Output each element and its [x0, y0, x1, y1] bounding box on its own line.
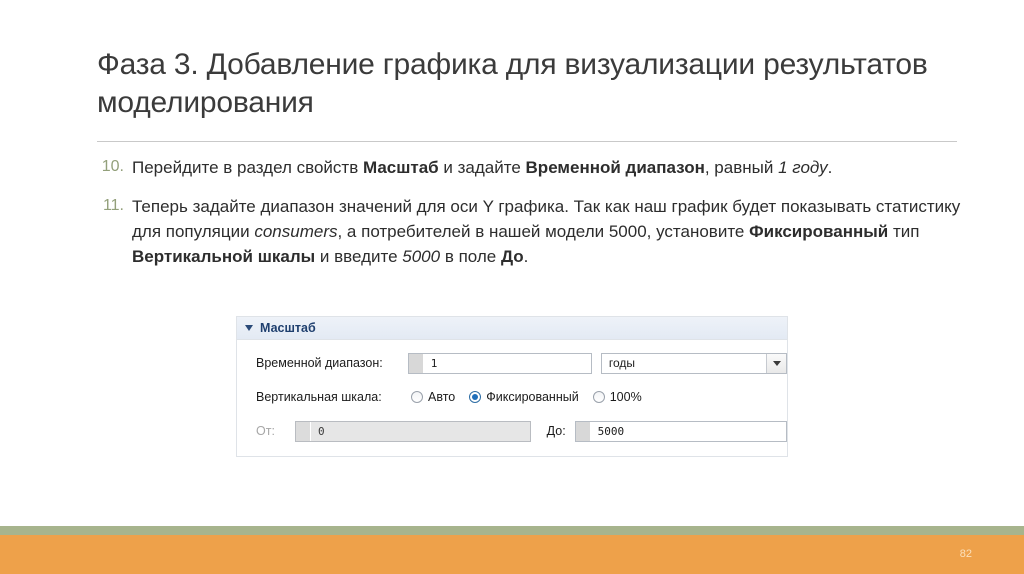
text-segment-italic: 1 году: [778, 158, 828, 177]
text-segment: тип: [888, 222, 919, 241]
text-segment-italic: 5000: [402, 247, 440, 266]
vertical-scale-row: Вертикальная шкала: Авто Фиксированный 1…: [237, 384, 787, 410]
time-range-value: 1: [424, 357, 438, 370]
radio-label: Фиксированный: [486, 390, 578, 404]
input-gutter: [576, 422, 591, 441]
chevron-down-icon[interactable]: [766, 354, 786, 373]
radio-option-auto[interactable]: Авто: [411, 390, 455, 404]
radio-icon-selected[interactable]: [469, 391, 481, 403]
list-item: 11. Теперь задайте диапазон значений для…: [88, 194, 968, 269]
text-segment-bold: Временной диапазон: [526, 158, 705, 177]
radio-icon[interactable]: [593, 391, 605, 403]
panel-body: Временной диапазон: 1 годы Вертикальная …: [237, 340, 787, 456]
text-segment: .: [524, 247, 529, 266]
time-range-row: Временной диапазон: 1 годы: [237, 350, 787, 376]
radio-label: Авто: [428, 390, 455, 404]
scale-properties-panel: Масштаб Временной диапазон: 1 годы Верти…: [236, 316, 788, 457]
range-to-input[interactable]: 5000: [575, 421, 787, 442]
input-gutter: [296, 422, 311, 441]
time-range-label: Временной диапазон:: [256, 356, 408, 370]
vertical-scale-label: Вертикальная шкала:: [256, 390, 411, 404]
time-unit-value: годы: [602, 356, 635, 370]
text-segment: , а потребителей в нашей модели 5000, ус…: [337, 222, 749, 241]
time-unit-select[interactable]: годы: [601, 353, 787, 374]
instruction-list: 10. Перейдите в раздел свойств Масштаб и…: [88, 155, 968, 283]
page-title: Фаза 3. Добавление графика для визуализа…: [97, 46, 957, 122]
footer-band: [0, 535, 1024, 574]
radio-option-percent[interactable]: 100%: [593, 390, 642, 404]
title-divider: [97, 141, 957, 142]
triangle-down-icon[interactable]: [245, 325, 253, 331]
list-item-number: 11.: [88, 194, 132, 218]
range-to-label: До:: [547, 424, 566, 438]
panel-title: Масштаб: [260, 321, 316, 335]
range-from-input[interactable]: 0: [295, 421, 531, 442]
text-segment: и введите: [315, 247, 402, 266]
radio-icon[interactable]: [411, 391, 423, 403]
text-segment-bold: Вертикальной шкалы: [132, 247, 315, 266]
text-segment: Перейдите в раздел свойств: [132, 158, 363, 177]
text-segment: в поле: [440, 247, 501, 266]
text-segment-italic: consumers: [254, 222, 337, 241]
range-row: От: 0 До: 5000: [237, 418, 787, 444]
list-item-number: 10.: [88, 155, 132, 179]
page-number: 82: [960, 548, 972, 560]
text-segment-bold: До: [501, 247, 524, 266]
text-segment: , равный: [705, 158, 778, 177]
list-item: 10. Перейдите в раздел свойств Масштаб и…: [88, 155, 968, 180]
range-to-value: 5000: [591, 425, 625, 438]
radio-label: 100%: [610, 390, 642, 404]
list-item-text: Теперь задайте диапазон значений для оси…: [132, 194, 968, 269]
range-from-label: От:: [256, 424, 295, 438]
input-gutter: [409, 354, 424, 373]
range-from-value: 0: [311, 425, 325, 438]
text-segment: .: [828, 158, 833, 177]
text-segment: и задайте: [439, 158, 526, 177]
footer-accent-strip: [0, 526, 1024, 535]
time-range-input[interactable]: 1: [408, 353, 592, 374]
vertical-scale-radio-group: Авто Фиксированный 100%: [411, 390, 642, 404]
radio-option-fixed[interactable]: Фиксированный: [469, 390, 578, 404]
text-segment-bold: Масштаб: [363, 158, 439, 177]
text-segment-bold: Фиксированный: [749, 222, 888, 241]
list-item-text: Перейдите в раздел свойств Масштаб и зад…: [132, 155, 968, 180]
panel-header[interactable]: Масштаб: [237, 317, 787, 340]
